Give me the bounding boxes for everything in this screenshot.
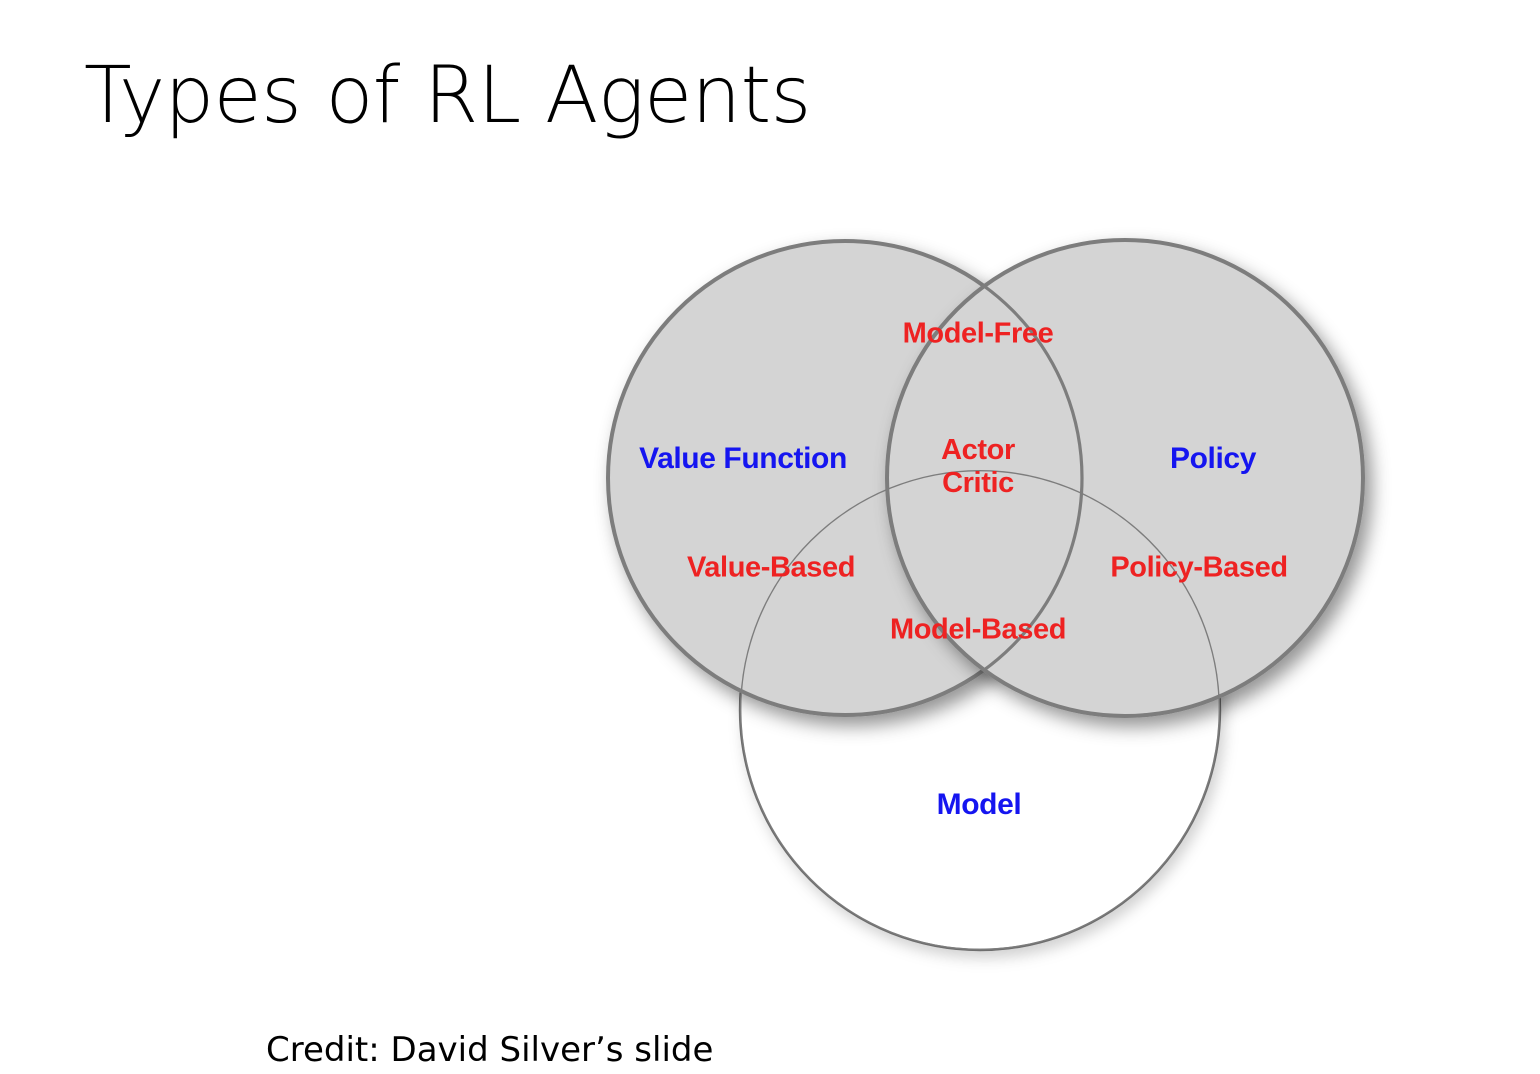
label-model-free: Model-Free	[903, 318, 1054, 351]
label-model-based: Model-Based	[890, 614, 1066, 647]
label-actor: Actor	[941, 434, 1015, 467]
slide-canvas: Types of RL Agents	[0, 0, 1540, 1074]
credit-text: Credit: David Silver’s slide	[266, 1030, 713, 1070]
venn-diagram: Value Function Policy Model Model-Free A…	[560, 200, 1420, 1000]
label-value-function: Value Function	[639, 442, 847, 476]
label-model: Model	[937, 788, 1022, 822]
label-value-based: Value-Based	[687, 552, 855, 585]
label-actor-critic: Actor Critic	[941, 434, 1015, 500]
page-title: Types of RL Agents	[84, 57, 811, 135]
label-critic: Critic	[941, 467, 1015, 500]
label-policy-based: Policy-Based	[1110, 552, 1287, 585]
label-policy: Policy	[1170, 442, 1256, 476]
